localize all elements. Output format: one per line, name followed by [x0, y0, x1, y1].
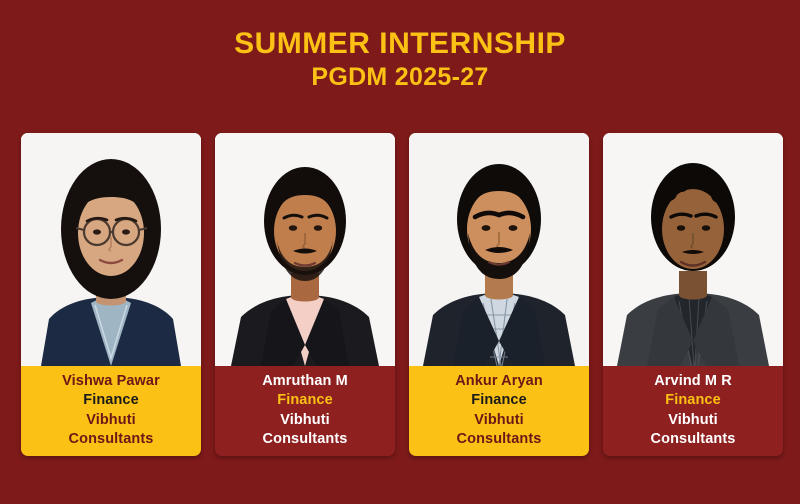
- company-name-line-2: Consultants: [651, 430, 736, 449]
- student-department: Finance: [277, 391, 333, 410]
- student-card[interactable]: Arvind M R Finance Vibhuti Consultants: [603, 133, 783, 456]
- student-name: Amruthan M: [262, 372, 348, 391]
- student-name: Vishwa Pawar: [62, 372, 160, 391]
- student-name: Arvind M R: [654, 372, 732, 391]
- company-name-line-2: Consultants: [457, 430, 542, 449]
- student-info: Ankur Aryan Finance Vibhuti Consultants: [409, 366, 589, 456]
- student-department: Finance: [471, 391, 527, 410]
- student-department: Finance: [665, 391, 721, 410]
- company-name-line-1: Vibhuti: [474, 411, 524, 430]
- student-department: Finance: [83, 391, 139, 410]
- portrait-photo-vishwa-pawar: [21, 133, 201, 366]
- student-info: Amruthan M Finance Vibhuti Consultants: [215, 366, 395, 456]
- poster-header: SUMMER INTERNSHIP PGDM 2025-27: [0, 0, 800, 94]
- company-name-line-1: Vibhuti: [280, 411, 330, 430]
- student-card[interactable]: Vishwa Pawar Finance Vibhuti Consultants: [21, 133, 201, 456]
- student-info: Vishwa Pawar Finance Vibhuti Consultants: [21, 366, 201, 456]
- company-name-line-1: Vibhuti: [86, 411, 136, 430]
- portrait-photo-amruthan-m: [215, 133, 395, 366]
- company-name-line-2: Consultants: [69, 430, 154, 449]
- student-name: Ankur Aryan: [455, 372, 543, 391]
- company-name-line-1: Vibhuti: [668, 411, 718, 430]
- student-card[interactable]: Amruthan M Finance Vibhuti Consultants: [215, 133, 395, 456]
- page-title: SUMMER INTERNSHIP: [0, 28, 800, 60]
- page-subtitle: PGDM 2025-27: [0, 62, 800, 93]
- student-card[interactable]: Ankur Aryan Finance Vibhuti Consultants: [409, 133, 589, 456]
- student-cards-row: Vishwa Pawar Finance Vibhuti Consultants: [21, 133, 783, 456]
- company-name-line-2: Consultants: [263, 430, 348, 449]
- student-info: Arvind M R Finance Vibhuti Consultants: [603, 366, 783, 456]
- portrait-photo-arvind-m-r: [603, 133, 783, 366]
- portrait-photo-ankur-aryan: [409, 133, 589, 366]
